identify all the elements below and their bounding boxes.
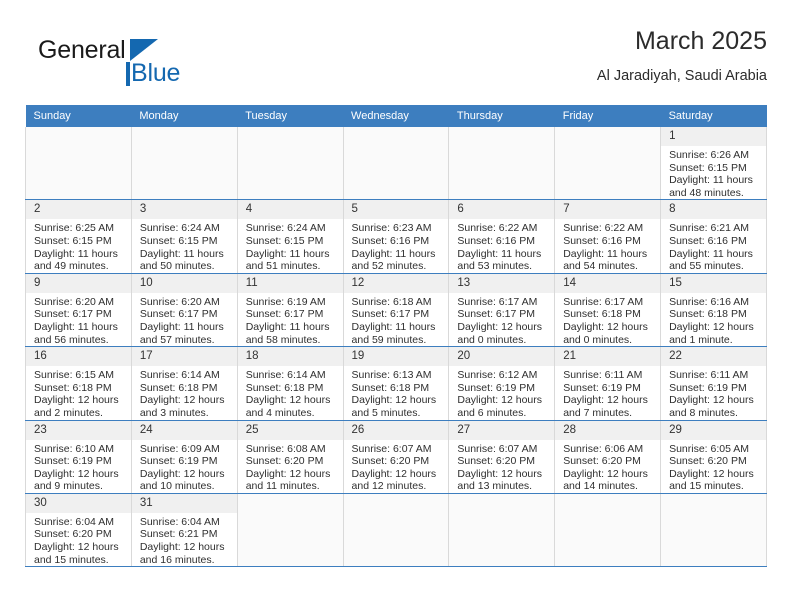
day-number: 20	[449, 347, 554, 366]
sunset-text: Sunset: 6:21 PM	[140, 528, 233, 541]
day-details: Sunrise: 6:22 AMSunset: 6:16 PMDaylight:…	[449, 219, 554, 272]
sunrise-text: Sunrise: 6:04 AM	[34, 516, 127, 529]
daylight-text: Daylight: 11 hours and 57 minutes.	[140, 321, 233, 346]
daylight-text: Daylight: 12 hours and 7 minutes.	[563, 394, 656, 419]
calendar-week-row: 2Sunrise: 6:25 AMSunset: 6:15 PMDaylight…	[26, 200, 767, 273]
weekday-header-tuesday: Tuesday	[237, 105, 343, 127]
weekday-header-wednesday: Wednesday	[343, 105, 449, 127]
daylight-text: Daylight: 12 hours and 16 minutes.	[140, 541, 233, 566]
day-number: 6	[449, 200, 554, 219]
calendar-day-cell[interactable]: 10Sunrise: 6:20 AMSunset: 6:17 PMDayligh…	[131, 273, 237, 346]
calendar-day-cell[interactable]: 23Sunrise: 6:10 AMSunset: 6:19 PMDayligh…	[26, 420, 132, 493]
day-details: Sunrise: 6:18 AMSunset: 6:17 PMDaylight:…	[344, 293, 449, 346]
logo-text-blue: Blue	[131, 59, 180, 88]
daylight-text: Daylight: 11 hours and 49 minutes.	[34, 248, 127, 273]
calendar-table: Sunday Monday Tuesday Wednesday Thursday…	[25, 105, 767, 567]
calendar-day-cell[interactable]: 4Sunrise: 6:24 AMSunset: 6:15 PMDaylight…	[237, 200, 343, 273]
calendar-day-cell[interactable]: 24Sunrise: 6:09 AMSunset: 6:19 PMDayligh…	[131, 420, 237, 493]
sunrise-text: Sunrise: 6:08 AM	[246, 443, 339, 456]
sunrise-text: Sunrise: 6:25 AM	[34, 222, 127, 235]
sunrise-text: Sunrise: 6:06 AM	[563, 443, 656, 456]
day-details: Sunrise: 6:13 AMSunset: 6:18 PMDaylight:…	[344, 366, 449, 419]
day-number: 23	[26, 421, 131, 440]
day-number: 24	[132, 421, 237, 440]
calendar-day-cell[interactable]: 11Sunrise: 6:19 AMSunset: 6:17 PMDayligh…	[237, 273, 343, 346]
day-details: Sunrise: 6:24 AMSunset: 6:15 PMDaylight:…	[238, 219, 343, 272]
sunset-text: Sunset: 6:20 PM	[669, 455, 762, 468]
day-details: Sunrise: 6:17 AMSunset: 6:17 PMDaylight:…	[449, 293, 554, 346]
daylight-text: Daylight: 12 hours and 4 minutes.	[246, 394, 339, 419]
calendar-day-cell[interactable]: 2Sunrise: 6:25 AMSunset: 6:15 PMDaylight…	[26, 200, 132, 273]
day-details: Sunrise: 6:11 AMSunset: 6:19 PMDaylight:…	[661, 366, 766, 419]
sunset-text: Sunset: 6:18 PM	[563, 308, 656, 321]
calendar-day-cell[interactable]: 6Sunrise: 6:22 AMSunset: 6:16 PMDaylight…	[449, 200, 555, 273]
sunset-text: Sunset: 6:18 PM	[34, 382, 127, 395]
day-number: 22	[661, 347, 766, 366]
weekday-header-sunday: Sunday	[26, 105, 132, 127]
sunset-text: Sunset: 6:15 PM	[246, 235, 339, 248]
sunrise-text: Sunrise: 6:17 AM	[457, 296, 550, 309]
day-details: Sunrise: 6:14 AMSunset: 6:18 PMDaylight:…	[238, 366, 343, 419]
calendar-day-cell[interactable]: 29Sunrise: 6:05 AMSunset: 6:20 PMDayligh…	[661, 420, 767, 493]
calendar-cell-empty	[449, 493, 555, 566]
daylight-text: Daylight: 12 hours and 5 minutes.	[352, 394, 445, 419]
day-number: 31	[132, 494, 237, 513]
calendar-week-row: 23Sunrise: 6:10 AMSunset: 6:19 PMDayligh…	[26, 420, 767, 493]
calendar-day-cell[interactable]: 14Sunrise: 6:17 AMSunset: 6:18 PMDayligh…	[555, 273, 661, 346]
sunrise-text: Sunrise: 6:24 AM	[140, 222, 233, 235]
calendar-week-row: 16Sunrise: 6:15 AMSunset: 6:18 PMDayligh…	[26, 347, 767, 420]
day-number: 17	[132, 347, 237, 366]
daylight-text: Daylight: 12 hours and 6 minutes.	[457, 394, 550, 419]
day-details: Sunrise: 6:25 AMSunset: 6:15 PMDaylight:…	[26, 219, 131, 272]
sunrise-text: Sunrise: 6:11 AM	[669, 369, 762, 382]
sunrise-text: Sunrise: 6:22 AM	[457, 222, 550, 235]
logo-text-general: General	[38, 36, 126, 65]
daylight-text: Daylight: 11 hours and 56 minutes.	[34, 321, 127, 346]
day-details: Sunrise: 6:26 AMSunset: 6:15 PMDaylight:…	[661, 146, 766, 199]
calendar-day-cell[interactable]: 19Sunrise: 6:13 AMSunset: 6:18 PMDayligh…	[343, 347, 449, 420]
sunrise-text: Sunrise: 6:26 AM	[669, 149, 762, 162]
calendar-day-cell[interactable]: 9Sunrise: 6:20 AMSunset: 6:17 PMDaylight…	[26, 273, 132, 346]
day-details: Sunrise: 6:19 AMSunset: 6:17 PMDaylight:…	[238, 293, 343, 346]
day-details: Sunrise: 6:21 AMSunset: 6:16 PMDaylight:…	[661, 219, 766, 272]
sunrise-text: Sunrise: 6:14 AM	[246, 369, 339, 382]
sunset-text: Sunset: 6:16 PM	[669, 235, 762, 248]
sunrise-text: Sunrise: 6:20 AM	[34, 296, 127, 309]
sunrise-text: Sunrise: 6:10 AM	[34, 443, 127, 456]
daylight-text: Daylight: 11 hours and 59 minutes.	[352, 321, 445, 346]
sunset-text: Sunset: 6:17 PM	[34, 308, 127, 321]
day-details: Sunrise: 6:06 AMSunset: 6:20 PMDaylight:…	[555, 440, 660, 493]
daylight-text: Daylight: 12 hours and 3 minutes.	[140, 394, 233, 419]
calendar-cell-empty	[343, 127, 449, 200]
sunrise-text: Sunrise: 6:05 AM	[669, 443, 762, 456]
day-number: 9	[26, 274, 131, 293]
day-number: 2	[26, 200, 131, 219]
calendar-day-cell[interactable]: 5Sunrise: 6:23 AMSunset: 6:16 PMDaylight…	[343, 200, 449, 273]
sunset-text: Sunset: 6:17 PM	[457, 308, 550, 321]
sunrise-text: Sunrise: 6:20 AM	[140, 296, 233, 309]
calendar-day-cell[interactable]: 28Sunrise: 6:06 AMSunset: 6:20 PMDayligh…	[555, 420, 661, 493]
calendar-cell-empty	[343, 493, 449, 566]
calendar-day-cell[interactable]: 31Sunrise: 6:04 AMSunset: 6:21 PMDayligh…	[131, 493, 237, 566]
day-details: Sunrise: 6:16 AMSunset: 6:18 PMDaylight:…	[661, 293, 766, 346]
sunrise-text: Sunrise: 6:07 AM	[457, 443, 550, 456]
sunset-text: Sunset: 6:20 PM	[352, 455, 445, 468]
calendar-week-row: 1Sunrise: 6:26 AMSunset: 6:15 PMDaylight…	[26, 127, 767, 200]
daylight-text: Daylight: 11 hours and 54 minutes.	[563, 248, 656, 273]
sunrise-text: Sunrise: 6:11 AM	[563, 369, 656, 382]
daylight-text: Daylight: 12 hours and 0 minutes.	[457, 321, 550, 346]
day-number: 28	[555, 421, 660, 440]
daylight-text: Daylight: 11 hours and 55 minutes.	[669, 248, 762, 273]
calendar-day-cell[interactable]: 15Sunrise: 6:16 AMSunset: 6:18 PMDayligh…	[661, 273, 767, 346]
sunrise-text: Sunrise: 6:09 AM	[140, 443, 233, 456]
sunrise-text: Sunrise: 6:07 AM	[352, 443, 445, 456]
day-details: Sunrise: 6:08 AMSunset: 6:20 PMDaylight:…	[238, 440, 343, 493]
calendar-day-cell[interactable]: 21Sunrise: 6:11 AMSunset: 6:19 PMDayligh…	[555, 347, 661, 420]
daylight-text: Daylight: 12 hours and 14 minutes.	[563, 468, 656, 493]
day-number: 29	[661, 421, 766, 440]
day-number: 10	[132, 274, 237, 293]
daylight-text: Daylight: 12 hours and 12 minutes.	[352, 468, 445, 493]
sunrise-text: Sunrise: 6:19 AM	[246, 296, 339, 309]
sunset-text: Sunset: 6:20 PM	[563, 455, 656, 468]
sunset-text: Sunset: 6:18 PM	[352, 382, 445, 395]
day-details: Sunrise: 6:20 AMSunset: 6:17 PMDaylight:…	[132, 293, 237, 346]
calendar-cell-empty	[449, 127, 555, 200]
sunset-text: Sunset: 6:20 PM	[34, 528, 127, 541]
calendar-day-cell[interactable]: 18Sunrise: 6:14 AMSunset: 6:18 PMDayligh…	[237, 347, 343, 420]
sunset-text: Sunset: 6:19 PM	[457, 382, 550, 395]
daylight-text: Daylight: 11 hours and 58 minutes.	[246, 321, 339, 346]
calendar-day-cell[interactable]: 30Sunrise: 6:04 AMSunset: 6:20 PMDayligh…	[26, 493, 132, 566]
calendar-body: 1Sunrise: 6:26 AMSunset: 6:15 PMDaylight…	[26, 127, 767, 567]
day-number: 3	[132, 200, 237, 219]
weekday-header-monday: Monday	[131, 105, 237, 127]
page-subtitle: Al Jaradiyah, Saudi Arabia	[597, 66, 767, 86]
sunset-text: Sunset: 6:16 PM	[352, 235, 445, 248]
calendar-cell-empty	[661, 493, 767, 566]
calendar-day-cell[interactable]: 17Sunrise: 6:14 AMSunset: 6:18 PMDayligh…	[131, 347, 237, 420]
daylight-text: Daylight: 12 hours and 9 minutes.	[34, 468, 127, 493]
sunset-text: Sunset: 6:19 PM	[140, 455, 233, 468]
sunrise-text: Sunrise: 6:16 AM	[669, 296, 762, 309]
sunset-text: Sunset: 6:18 PM	[246, 382, 339, 395]
daylight-text: Daylight: 11 hours and 51 minutes.	[246, 248, 339, 273]
sunrise-text: Sunrise: 6:13 AM	[352, 369, 445, 382]
sunrise-text: Sunrise: 6:15 AM	[34, 369, 127, 382]
day-details: Sunrise: 6:20 AMSunset: 6:17 PMDaylight:…	[26, 293, 131, 346]
calendar-cell-empty	[131, 127, 237, 200]
calendar-cell-empty	[237, 493, 343, 566]
sunset-text: Sunset: 6:20 PM	[246, 455, 339, 468]
logo-triangle-icon	[130, 39, 158, 61]
day-details: Sunrise: 6:24 AMSunset: 6:15 PMDaylight:…	[132, 219, 237, 272]
sunrise-text: Sunrise: 6:17 AM	[563, 296, 656, 309]
day-details: Sunrise: 6:15 AMSunset: 6:18 PMDaylight:…	[26, 366, 131, 419]
day-details: Sunrise: 6:07 AMSunset: 6:20 PMDaylight:…	[344, 440, 449, 493]
day-number: 4	[238, 200, 343, 219]
sunrise-text: Sunrise: 6:24 AM	[246, 222, 339, 235]
day-details: Sunrise: 6:10 AMSunset: 6:19 PMDaylight:…	[26, 440, 131, 493]
page-title: March 2025	[597, 26, 767, 56]
calendar-day-cell[interactable]: 13Sunrise: 6:17 AMSunset: 6:17 PMDayligh…	[449, 273, 555, 346]
daylight-text: Daylight: 12 hours and 13 minutes.	[457, 468, 550, 493]
sunset-text: Sunset: 6:15 PM	[34, 235, 127, 248]
day-number: 12	[344, 274, 449, 293]
sunset-text: Sunset: 6:19 PM	[563, 382, 656, 395]
daylight-text: Daylight: 12 hours and 8 minutes.	[669, 394, 762, 419]
calendar-day-cell[interactable]: 7Sunrise: 6:22 AMSunset: 6:16 PMDaylight…	[555, 200, 661, 273]
day-number: 7	[555, 200, 660, 219]
sunset-text: Sunset: 6:19 PM	[669, 382, 762, 395]
calendar-week-row: 30Sunrise: 6:04 AMSunset: 6:20 PMDayligh…	[26, 493, 767, 566]
day-details: Sunrise: 6:04 AMSunset: 6:21 PMDaylight:…	[132, 513, 237, 566]
calendar-day-cell[interactable]: 16Sunrise: 6:15 AMSunset: 6:18 PMDayligh…	[26, 347, 132, 420]
calendar-day-cell[interactable]: 3Sunrise: 6:24 AMSunset: 6:15 PMDaylight…	[131, 200, 237, 273]
weekday-header-friday: Friday	[555, 105, 661, 127]
calendar-day-cell[interactable]: 27Sunrise: 6:07 AMSunset: 6:20 PMDayligh…	[449, 420, 555, 493]
day-number: 30	[26, 494, 131, 513]
calendar-day-cell[interactable]: 12Sunrise: 6:18 AMSunset: 6:17 PMDayligh…	[343, 273, 449, 346]
day-number: 16	[26, 347, 131, 366]
sunrise-text: Sunrise: 6:21 AM	[669, 222, 762, 235]
calendar-day-cell[interactable]: 1Sunrise: 6:26 AMSunset: 6:15 PMDaylight…	[661, 127, 767, 200]
calendar-cell-empty	[237, 127, 343, 200]
day-number: 27	[449, 421, 554, 440]
day-number: 1	[661, 127, 766, 146]
sunset-text: Sunset: 6:17 PM	[246, 308, 339, 321]
day-number: 8	[661, 200, 766, 219]
sunset-text: Sunset: 6:20 PM	[457, 455, 550, 468]
sunrise-text: Sunrise: 6:18 AM	[352, 296, 445, 309]
sunset-text: Sunset: 6:15 PM	[140, 235, 233, 248]
title-block: March 2025 Al Jaradiyah, Saudi Arabia	[597, 26, 767, 86]
sunrise-text: Sunrise: 6:14 AM	[140, 369, 233, 382]
day-number: 11	[238, 274, 343, 293]
daylight-text: Daylight: 12 hours and 11 minutes.	[246, 468, 339, 493]
daylight-text: Daylight: 11 hours and 53 minutes.	[457, 248, 550, 273]
calendar-page: General Blue March 2025 Al Jaradiyah, Sa…	[0, 0, 792, 612]
day-number: 19	[344, 347, 449, 366]
sunset-text: Sunset: 6:17 PM	[140, 308, 233, 321]
day-number: 5	[344, 200, 449, 219]
sunset-text: Sunset: 6:16 PM	[563, 235, 656, 248]
daylight-text: Daylight: 11 hours and 52 minutes.	[352, 248, 445, 273]
day-number: 18	[238, 347, 343, 366]
calendar-day-cell[interactable]: 26Sunrise: 6:07 AMSunset: 6:20 PMDayligh…	[343, 420, 449, 493]
sunset-text: Sunset: 6:18 PM	[140, 382, 233, 395]
day-details: Sunrise: 6:04 AMSunset: 6:20 PMDaylight:…	[26, 513, 131, 566]
sunset-text: Sunset: 6:15 PM	[669, 162, 762, 175]
sunset-text: Sunset: 6:16 PM	[457, 235, 550, 248]
day-details: Sunrise: 6:07 AMSunset: 6:20 PMDaylight:…	[449, 440, 554, 493]
calendar-day-cell[interactable]: 22Sunrise: 6:11 AMSunset: 6:19 PMDayligh…	[661, 347, 767, 420]
day-number: 14	[555, 274, 660, 293]
day-number: 25	[238, 421, 343, 440]
calendar-cell-empty	[555, 127, 661, 200]
calendar-week-row: 9Sunrise: 6:20 AMSunset: 6:17 PMDaylight…	[26, 273, 767, 346]
day-details: Sunrise: 6:05 AMSunset: 6:20 PMDaylight:…	[661, 440, 766, 493]
sunrise-text: Sunrise: 6:12 AM	[457, 369, 550, 382]
day-number: 21	[555, 347, 660, 366]
weekday-header-thursday: Thursday	[449, 105, 555, 127]
daylight-text: Daylight: 12 hours and 15 minutes.	[669, 468, 762, 493]
sunrise-text: Sunrise: 6:22 AM	[563, 222, 656, 235]
sunrise-text: Sunrise: 6:04 AM	[140, 516, 233, 529]
day-details: Sunrise: 6:14 AMSunset: 6:18 PMDaylight:…	[132, 366, 237, 419]
calendar-day-cell[interactable]: 8Sunrise: 6:21 AMSunset: 6:16 PMDaylight…	[661, 200, 767, 273]
weekday-header-saturday: Saturday	[661, 105, 767, 127]
sunset-text: Sunset: 6:17 PM	[352, 308, 445, 321]
day-number: 13	[449, 274, 554, 293]
day-details: Sunrise: 6:22 AMSunset: 6:16 PMDaylight:…	[555, 219, 660, 272]
page-header: General Blue March 2025 Al Jaradiyah, Sa…	[25, 26, 767, 100]
calendar-cell-empty	[555, 493, 661, 566]
daylight-text: Daylight: 12 hours and 2 minutes.	[34, 394, 127, 419]
calendar-day-cell[interactable]: 25Sunrise: 6:08 AMSunset: 6:20 PMDayligh…	[237, 420, 343, 493]
day-details: Sunrise: 6:17 AMSunset: 6:18 PMDaylight:…	[555, 293, 660, 346]
daylight-text: Daylight: 11 hours and 50 minutes.	[140, 248, 233, 273]
daylight-text: Daylight: 12 hours and 1 minute.	[669, 321, 762, 346]
daylight-text: Daylight: 12 hours and 0 minutes.	[563, 321, 656, 346]
sunrise-text: Sunrise: 6:23 AM	[352, 222, 445, 235]
day-number: 26	[344, 421, 449, 440]
day-details: Sunrise: 6:11 AMSunset: 6:19 PMDaylight:…	[555, 366, 660, 419]
logo-bar-icon	[126, 62, 130, 86]
weekday-header-row: Sunday Monday Tuesday Wednesday Thursday…	[26, 105, 767, 127]
sunset-text: Sunset: 6:18 PM	[669, 308, 762, 321]
daylight-text: Daylight: 12 hours and 10 minutes.	[140, 468, 233, 493]
general-blue-logo[interactable]: General Blue	[38, 36, 238, 92]
day-details: Sunrise: 6:12 AMSunset: 6:19 PMDaylight:…	[449, 366, 554, 419]
sunset-text: Sunset: 6:19 PM	[34, 455, 127, 468]
day-details: Sunrise: 6:09 AMSunset: 6:19 PMDaylight:…	[132, 440, 237, 493]
day-details: Sunrise: 6:23 AMSunset: 6:16 PMDaylight:…	[344, 219, 449, 272]
daylight-text: Daylight: 11 hours and 48 minutes.	[669, 174, 762, 199]
day-number: 15	[661, 274, 766, 293]
calendar-cell-empty	[26, 127, 132, 200]
daylight-text: Daylight: 12 hours and 15 minutes.	[34, 541, 127, 566]
calendar-day-cell[interactable]: 20Sunrise: 6:12 AMSunset: 6:19 PMDayligh…	[449, 347, 555, 420]
